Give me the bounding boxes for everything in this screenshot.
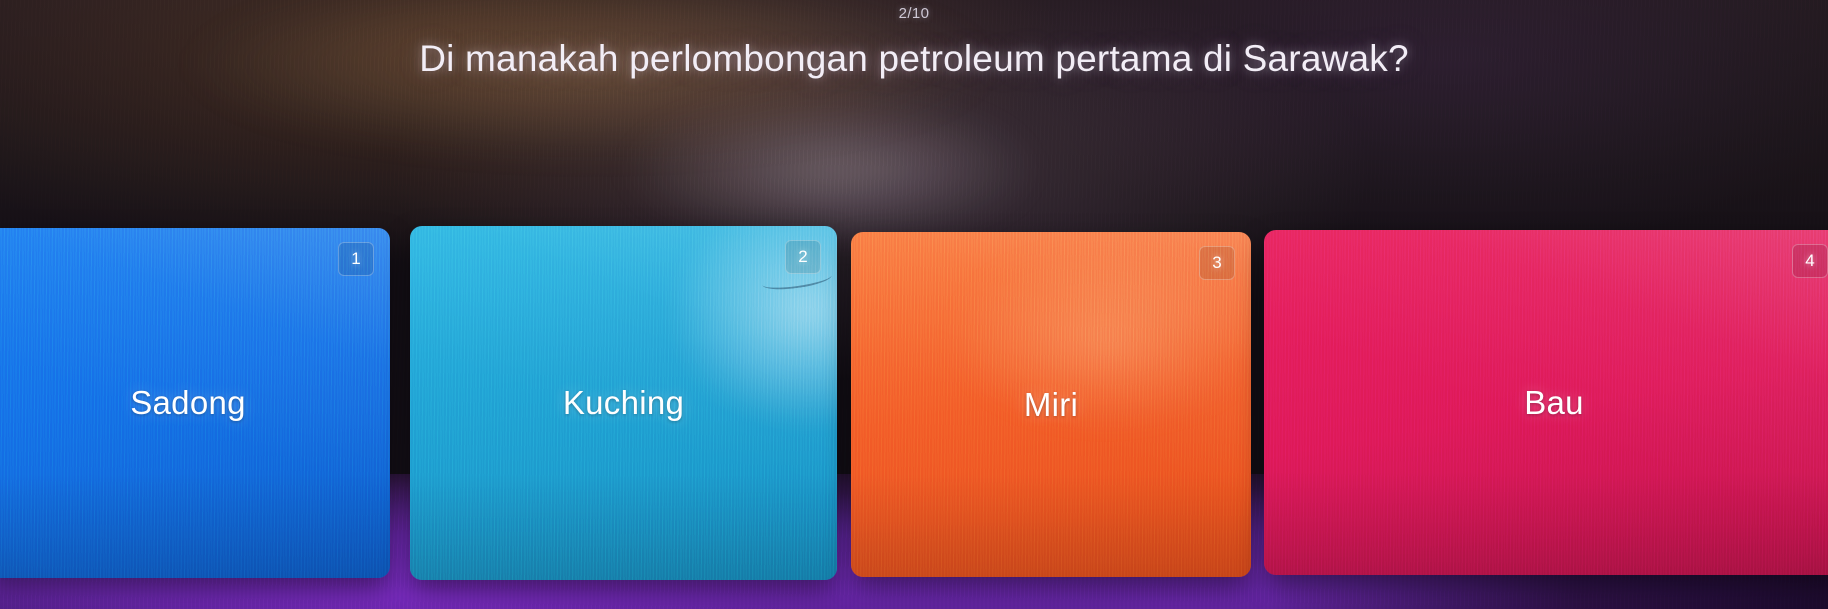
answer-grid: 1 Sadong 2 Kuching 3 Miri 4 Bau (0, 0, 1828, 609)
answer-tile-miri[interactable]: 3 Miri (851, 232, 1251, 577)
answer-label-sadong: Sadong (0, 384, 390, 422)
answer-label-miri: Miri (851, 386, 1251, 424)
answer-badge-2: 2 (785, 240, 821, 274)
answer-tile-bau[interactable]: 4 Bau (1264, 230, 1828, 575)
answer-label-kuching: Kuching (410, 384, 837, 422)
quiz-screen: 2/10 Di manakah perlombongan petroleum p… (0, 0, 1828, 609)
answer-badge-3: 3 (1199, 246, 1235, 280)
answer-tile-kuching[interactable]: 2 Kuching (410, 226, 837, 580)
answer-badge-1: 1 (338, 242, 374, 276)
answer-label-bau: Bau (1264, 384, 1828, 422)
answer-badge-4: 4 (1792, 244, 1828, 278)
answer-tile-sadong[interactable]: 1 Sadong (0, 228, 390, 578)
